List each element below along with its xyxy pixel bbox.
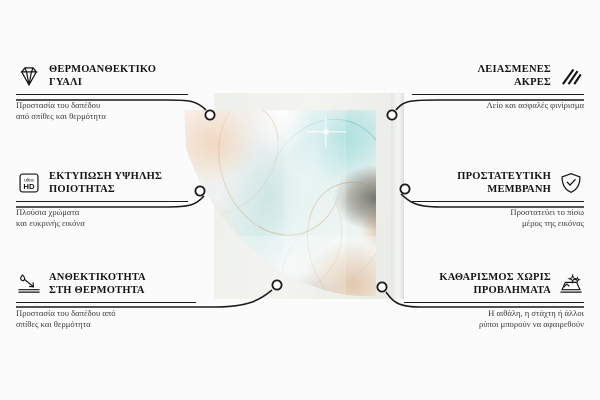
connector-dot-6 [377, 282, 386, 291]
feature-divider [404, 302, 584, 303]
flame-arrow-layers-icon [16, 272, 42, 296]
feature-description: Προστασία του δαπέδου από σπίθες και θερ… [16, 308, 196, 330]
feature-header: ΛΕΙΑΣΜΕΝΕΣ ΑΚΡΕΣ [412, 63, 584, 89]
feature-description: Πλούσια χρώματα και ευκρινής εικόνα [16, 207, 188, 229]
connector-dot-3 [272, 280, 281, 289]
infographic-stage: ΘΕΡΜΟΑΝΘΕΚΤΙΚΟ ΓΥΑΛΙ Προστασία του δαπέδ… [0, 0, 600, 400]
feature-divider [16, 94, 188, 95]
feature-header: ΚΑΘΑΡΙΣΜΟΣ ΧΩΡΙΣ ΠΡΟΒΛΗΜΑΤΑ [404, 271, 584, 297]
feature-header: ultra HD ΕΚΤΥΠΩΣΗ ΥΨΗΛΗΣ ΠΟΙΟΤΗΤΑΣ [16, 170, 188, 196]
feature-title: ΛΕΙΑΣΜΕΝΕΣ ΑΚΡΕΣ [478, 63, 551, 89]
feature-description: Η αιθάλη, η στάχτη ή άλλοι ρύποι μπορούν… [404, 308, 584, 330]
feature-easy-cleaning: ΚΑΘΑΡΙΣΜΟΣ ΧΩΡΙΣ ΠΡΟΒΛΗΜΑΤΑ Η αιθάλη, η … [404, 271, 584, 330]
feature-title: ΘΕΡΜΟΑΝΘΕΚΤΙΚΟ ΓΥΑΛΙ [49, 63, 156, 89]
feature-description: Λείο και ασφαλές φινίρισμα [412, 100, 584, 111]
svg-text:HD: HD [23, 182, 35, 191]
feature-description: Προστατεύει το πίσω μέρος της εικόνας [412, 207, 584, 229]
feature-description: Προστασία του δαπέδου από σπίθες και θερ… [16, 100, 188, 122]
diamond-icon [16, 64, 42, 88]
feature-divider [412, 94, 584, 95]
feature-heat-durability: ΑΝΘΕΚΤΙΚΟΤΗΤΑ ΣΤΗ ΘΕΡΜΟΤΗΤΑ Προστασία το… [16, 271, 196, 330]
feature-header: ΑΝΘΕΚΤΙΚΟΤΗΤΑ ΣΤΗ ΘΕΡΜΟΤΗΤΑ [16, 271, 196, 297]
feature-divider [16, 302, 196, 303]
connector-dot-1 [205, 110, 214, 119]
feature-protective-membrane: ΠΡΟΣΤΑΤΕΥΤΙΚΗ ΜΕΜΒΡΑΝΗ Προστατεύει το πί… [412, 170, 584, 229]
feature-title: ΚΑΘΑΡΙΣΜΟΣ ΧΩΡΙΣ ΠΡΟΒΛΗΜΑΤΑ [439, 271, 551, 297]
feature-title: ΕΚΤΥΠΩΣΗ ΥΨΗΛΗΣ ΠΟΙΟΤΗΤΑΣ [49, 170, 162, 196]
feature-divider [412, 201, 584, 202]
feature-high-quality-print: ultra HD ΕΚΤΥΠΩΣΗ ΥΨΗΛΗΣ ΠΟΙΟΤΗΤΑΣ Πλούσ… [16, 170, 188, 229]
diagonal-stripes-icon [558, 64, 584, 88]
ultra-hd-icon: ultra HD [16, 171, 42, 195]
connector-dot-4 [387, 110, 396, 119]
feature-header: ΠΡΟΣΤΑΤΕΥΤΙΚΗ ΜΕΜΒΡΑΝΗ [412, 170, 584, 196]
sponge-sparkle-icon [558, 272, 584, 296]
feature-header: ΘΕΡΜΟΑΝΘΕΚΤΙΚΟ ΓΥΑΛΙ [16, 63, 188, 89]
feature-heat-resistant-glass: ΘΕΡΜΟΑΝΘΕΚΤΙΚΟ ΓΥΑΛΙ Προστασία του δαπέδ… [16, 63, 188, 122]
connector-dot-5 [400, 184, 409, 193]
feature-divider [16, 201, 188, 202]
feature-title: ΠΡΟΣΤΑΤΕΥΤΙΚΗ ΜΕΜΒΡΑΝΗ [457, 170, 551, 196]
shield-check-icon [558, 171, 584, 195]
connector-dot-2 [195, 186, 204, 195]
feature-polished-edges: ΛΕΙΑΣΜΕΝΕΣ ΑΚΡΕΣ Λείο και ασφαλές φινίρι… [412, 63, 584, 111]
feature-title: ΑΝΘΕΚΤΙΚΟΤΗΤΑ ΣΤΗ ΘΕΡΜΟΤΗΤΑ [49, 271, 146, 297]
